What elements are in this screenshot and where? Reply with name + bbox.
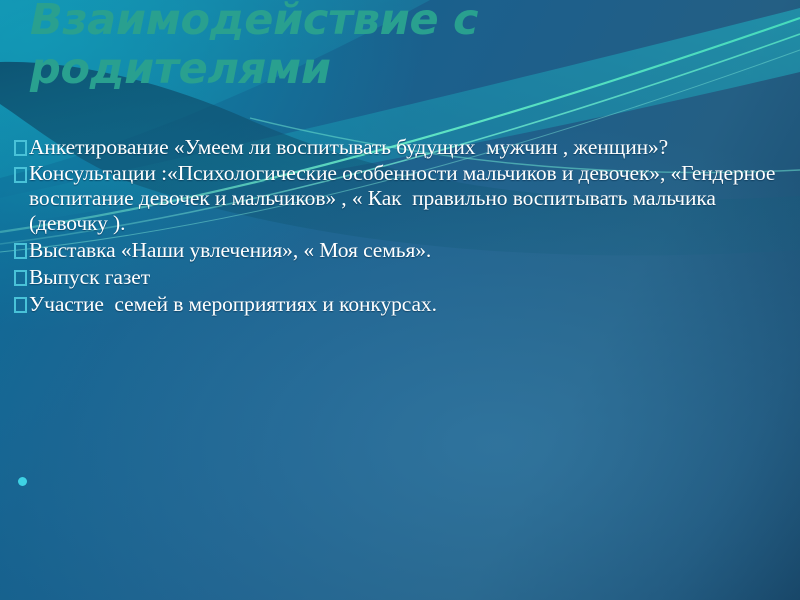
list-item-text: Консультации :«Психологические особеннос… bbox=[29, 161, 784, 236]
list-item: Консультации :«Психологические особеннос… bbox=[14, 161, 784, 236]
hollow-square-bullet-icon bbox=[14, 167, 27, 183]
slide-title: Взаимодействие с родителями bbox=[30, 0, 730, 94]
trailing-list-item bbox=[18, 477, 35, 486]
list-item: Выставка «Наши увлечения», « Моя семья». bbox=[14, 237, 784, 263]
list-item: Анкетирование «Умеем ли воспитывать буду… bbox=[14, 134, 784, 160]
presentation-slide: Взаимодействие с родителями Анкетировани… bbox=[0, 0, 800, 600]
hollow-square-bullet-icon bbox=[14, 243, 27, 259]
bullet-list: Анкетирование «Умеем ли воспитывать буду… bbox=[14, 134, 784, 318]
list-item: Выпуск газет bbox=[14, 264, 784, 290]
list-item: Участие семей в мероприятиях и конкурсах… bbox=[14, 291, 784, 317]
hollow-square-bullet-icon bbox=[14, 297, 27, 313]
list-item-text: Анкетирование «Умеем ли воспитывать буду… bbox=[29, 134, 784, 160]
slide-title-line-2: родителями bbox=[30, 45, 730, 94]
list-item-text: Выпуск газет bbox=[29, 264, 784, 290]
list-item-text: Участие семей в мероприятиях и конкурсах… bbox=[29, 291, 784, 317]
dot-bullet-icon bbox=[18, 477, 27, 486]
hollow-square-bullet-icon bbox=[14, 140, 27, 156]
list-item-text: Выставка «Наши увлечения», « Моя семья». bbox=[29, 237, 784, 263]
slide-title-line-1: Взаимодействие с bbox=[30, 0, 730, 45]
hollow-square-bullet-icon bbox=[14, 270, 27, 286]
